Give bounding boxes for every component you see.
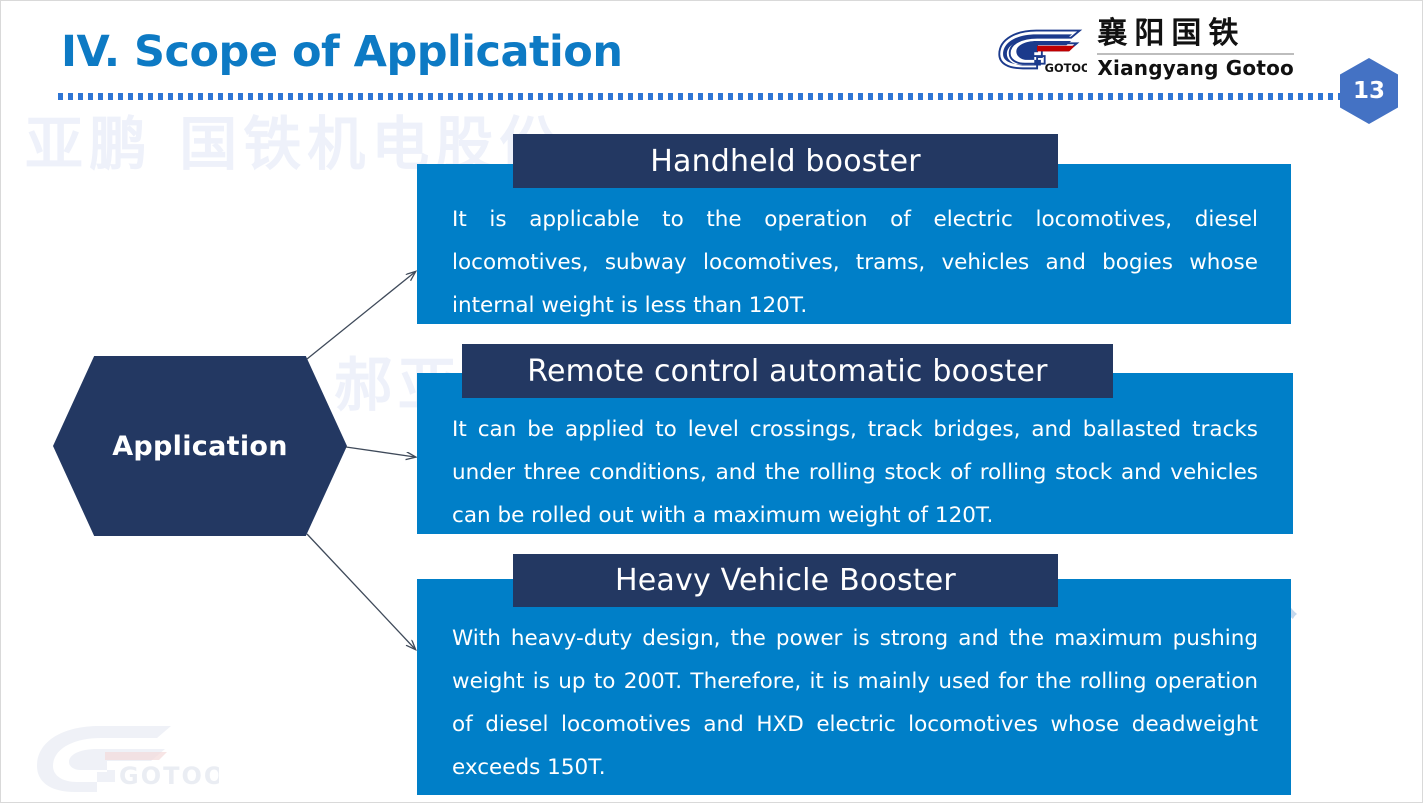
brand-divider (1097, 53, 1294, 55)
connector-arrow-3 (307, 534, 415, 649)
slide-canvas: 阝亚鹏 国铁机电股份 郝亚鹏 国铁机电股份 郝亚鹏 国铁机电股份 GOTOO I… (0, 0, 1423, 803)
page-number-badge: 13 (1340, 58, 1398, 124)
application-hexagon-label: Application (112, 431, 288, 462)
card-text-2: It can be applied to level crossings, tr… (452, 408, 1258, 537)
card-text-1: It is applicable to the operation of ele… (452, 198, 1258, 327)
card-text-3: With heavy-duty design, the power is str… (452, 617, 1258, 789)
connector-arrow-1 (307, 272, 415, 359)
card-heading-1: Handheld booster (513, 134, 1058, 188)
card-heading-3: Heavy Vehicle Booster (513, 554, 1058, 607)
brand-logo: GOTOO 襄阳国铁 Xiangyang Gotoo (991, 19, 1294, 78)
application-hexagon: Application (53, 356, 347, 536)
title-divider (58, 93, 1352, 100)
page-title: IV. Scope of Application (61, 27, 622, 77)
watermark-gotoo-logo: GOTOO (19, 708, 219, 792)
connector-arrow-2 (346, 447, 415, 457)
card-heading-2: Remote control automatic booster (462, 344, 1113, 398)
svg-text:GOTOO: GOTOO (119, 762, 219, 790)
gotoo-logo-icon: GOTOO (991, 23, 1087, 75)
brand-name-en: Xiangyang Gotoo (1097, 58, 1294, 78)
brand-name-cn: 襄阳国铁 (1097, 19, 1294, 49)
svg-text:GOTOO: GOTOO (1045, 61, 1087, 75)
